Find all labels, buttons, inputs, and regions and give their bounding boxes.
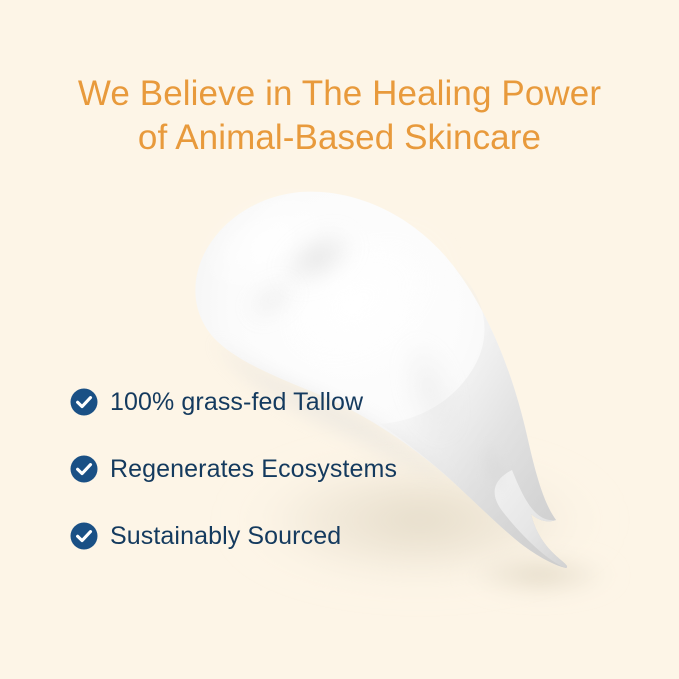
check-circle-icon bbox=[70, 388, 98, 416]
check-circle-icon bbox=[70, 455, 98, 483]
feature-label: Sustainably Sourced bbox=[110, 522, 341, 550]
headline-line-1: We Believe in The Healing Power bbox=[0, 72, 679, 116]
list-item: Sustainably Sourced bbox=[70, 516, 397, 556]
list-item: 100% grass-fed Tallow bbox=[70, 382, 397, 422]
check-circle-icon bbox=[70, 522, 98, 550]
feature-label: Regenerates Ecosystems bbox=[110, 455, 397, 483]
marketing-graphic: We Believe in The Healing Power of Anima… bbox=[0, 0, 679, 679]
feature-label: 100% grass-fed Tallow bbox=[110, 388, 363, 416]
headline-line-2: of Animal-Based Skincare bbox=[0, 116, 679, 160]
feature-list: 100% grass-fed Tallow Regenerates Ecosys… bbox=[70, 382, 397, 556]
list-item: Regenerates Ecosystems bbox=[70, 449, 397, 489]
page-title: We Believe in The Healing Power of Anima… bbox=[0, 72, 679, 160]
